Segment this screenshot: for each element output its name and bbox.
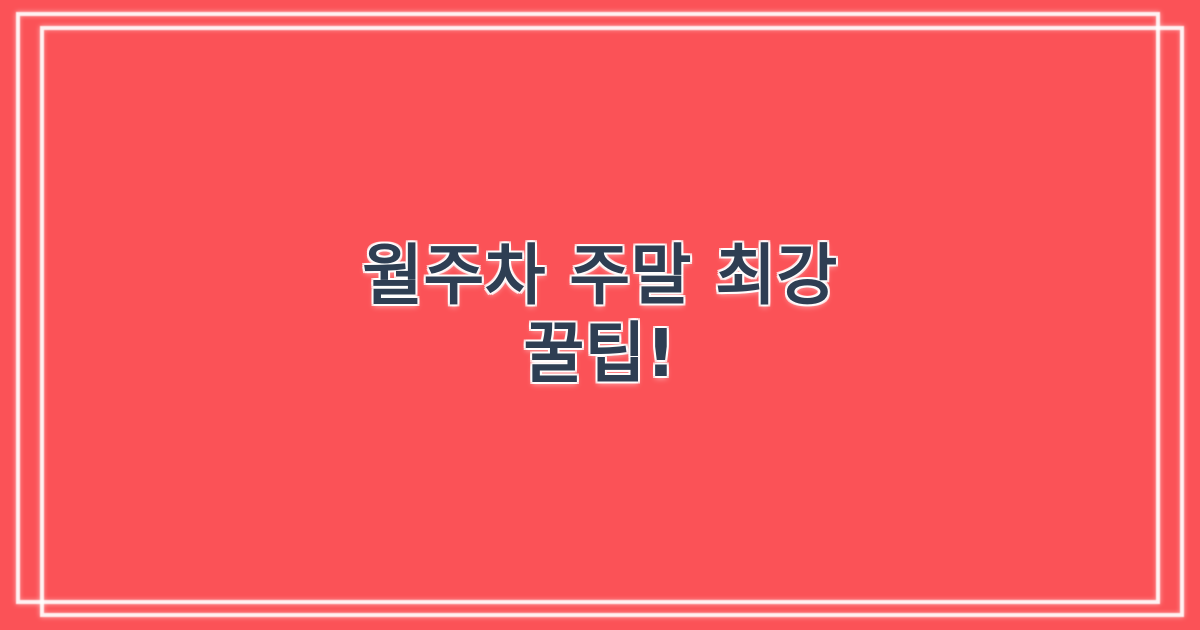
- headline-text: 월주차 주말 최강 꿀팁!: [302, 237, 898, 393]
- thumbnail-poster: 월주차 주말 최강 꿀팁!: [0, 0, 1200, 630]
- headline-container: 월주차 주말 최강 꿀팁!: [0, 0, 1200, 630]
